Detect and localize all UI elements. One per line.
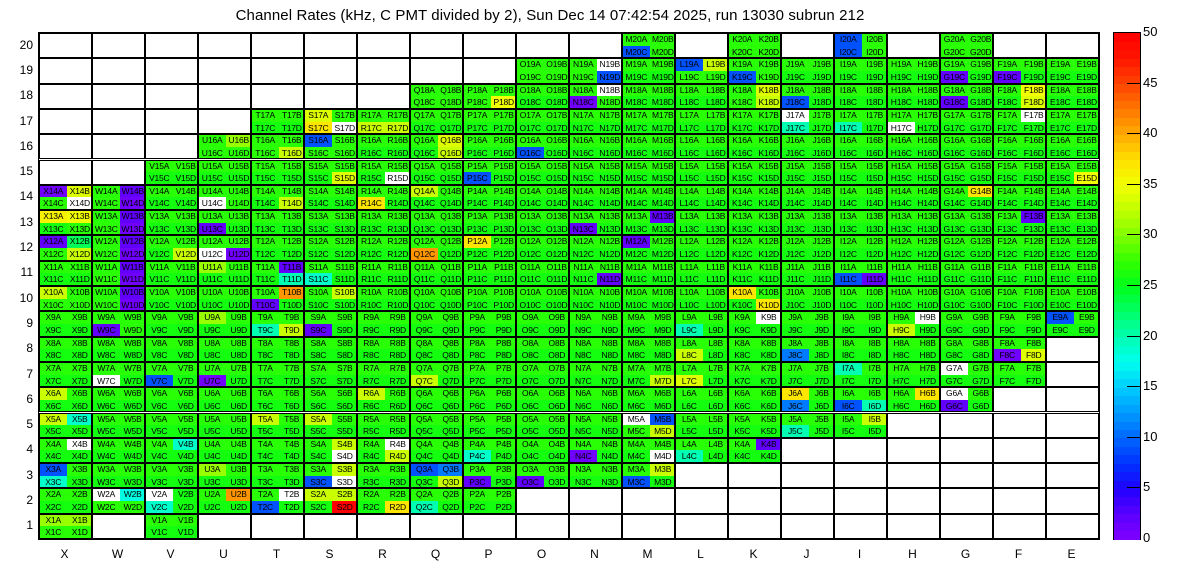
heatmap-supercell[interactable]: U14AU14BU14CU14D bbox=[198, 185, 251, 210]
heatmap-subcell[interactable]: J11B bbox=[809, 261, 835, 274]
heatmap-subcell[interactable]: K17D bbox=[756, 122, 782, 135]
heatmap-subcell[interactable]: T4C bbox=[252, 450, 279, 463]
heatmap-subcell[interactable]: J18C bbox=[782, 96, 809, 109]
heatmap-supercell[interactable]: H6AH6BH6CH6D bbox=[887, 387, 940, 412]
heatmap-subcell[interactable]: H19A bbox=[888, 58, 915, 71]
heatmap-supercell[interactable]: S13AS13BS13CS13D bbox=[304, 210, 357, 235]
heatmap-subcell[interactable]: G9A bbox=[941, 311, 968, 324]
heatmap-subcell[interactable]: V5B bbox=[173, 413, 199, 426]
heatmap-subcell[interactable]: N7C bbox=[570, 375, 597, 388]
heatmap-subcell[interactable]: U15C bbox=[199, 172, 226, 185]
heatmap-subcell[interactable]: T9A bbox=[252, 311, 279, 324]
heatmap-subcell[interactable]: Q16C bbox=[411, 147, 438, 160]
heatmap-supercell[interactable]: Q17AQ17BQ17CQ17D bbox=[410, 109, 463, 134]
heatmap-subcell[interactable]: L6A bbox=[676, 387, 703, 400]
heatmap-subcell[interactable]: N6C bbox=[570, 400, 597, 413]
heatmap-subcell[interactable]: K4A bbox=[729, 438, 756, 451]
heatmap-subcell[interactable]: K11A bbox=[729, 261, 756, 274]
heatmap-supercell[interactable]: E10AE10BE10CE10D bbox=[1046, 286, 1099, 311]
heatmap-subcell[interactable]: G16D bbox=[968, 147, 994, 160]
heatmap-subcell[interactable]: M4B bbox=[650, 438, 676, 451]
heatmap-subcell[interactable]: J17A bbox=[782, 109, 809, 122]
heatmap-supercell[interactable]: R5AR5BR5CR5D bbox=[357, 413, 410, 438]
heatmap-subcell[interactable]: S11B bbox=[332, 261, 358, 274]
heatmap-subcell[interactable]: R13A bbox=[358, 210, 385, 223]
heatmap-subcell[interactable]: P10D bbox=[491, 299, 517, 312]
heatmap-supercell[interactable]: N13AN13BN13CN13D bbox=[569, 210, 622, 235]
heatmap-subcell[interactable]: N17B bbox=[597, 109, 623, 122]
heatmap-subcell[interactable]: R11C bbox=[358, 273, 385, 286]
heatmap-subcell[interactable]: W9D bbox=[120, 324, 146, 337]
heatmap-supercell[interactable]: T5AT5BT5CT5D bbox=[251, 413, 304, 438]
heatmap-subcell[interactable]: N8C bbox=[570, 349, 597, 362]
heatmap-subcell[interactable]: H11B bbox=[915, 261, 941, 274]
heatmap-subcell[interactable]: G15B bbox=[968, 160, 994, 173]
heatmap-subcell[interactable]: S4B bbox=[332, 438, 358, 451]
heatmap-subcell[interactable]: X6B bbox=[67, 387, 93, 400]
heatmap-supercell[interactable]: W9AW9BW9CW9D bbox=[92, 311, 145, 336]
heatmap-supercell[interactable]: Q3AQ3BQ3CQ3D bbox=[410, 463, 463, 488]
heatmap-subcell[interactable]: L14D bbox=[703, 197, 729, 210]
heatmap-subcell[interactable]: L13C bbox=[676, 223, 703, 236]
heatmap-supercell[interactable]: Q10AQ10BQ10CQ10D bbox=[410, 286, 463, 311]
heatmap-subcell[interactable]: K15B bbox=[756, 160, 782, 173]
heatmap-subcell[interactable]: T6B bbox=[279, 387, 305, 400]
heatmap-subcell[interactable]: L9A bbox=[676, 311, 703, 324]
heatmap-subcell[interactable]: S6D bbox=[332, 400, 358, 413]
heatmap-subcell[interactable]: P5B bbox=[491, 413, 517, 426]
heatmap-subcell[interactable]: G6B bbox=[968, 387, 994, 400]
heatmap-supercell[interactable]: G12AG12BG12CG12D bbox=[940, 235, 993, 260]
heatmap-subcell[interactable]: F9A bbox=[994, 311, 1021, 324]
heatmap-subcell[interactable]: Q13A bbox=[411, 210, 438, 223]
heatmap-subcell[interactable]: H9A bbox=[888, 311, 915, 324]
heatmap-supercell[interactable]: S12AS12BS12CS12D bbox=[304, 235, 357, 260]
heatmap-subcell[interactable]: R15B bbox=[385, 160, 411, 173]
heatmap-supercell[interactable]: R6AR6BR6CR6D bbox=[357, 387, 410, 412]
heatmap-subcell[interactable]: T8C bbox=[252, 349, 279, 362]
heatmap-subcell[interactable]: O4B bbox=[544, 438, 570, 451]
heatmap-subcell[interactable]: H13B bbox=[915, 210, 941, 223]
heatmap-subcell[interactable]: N10D bbox=[597, 299, 623, 312]
heatmap-supercell[interactable]: M10AM10BM10CM10D bbox=[622, 286, 675, 311]
heatmap-subcell[interactable]: G13B bbox=[968, 210, 994, 223]
heatmap-subcell[interactable]: J12A bbox=[782, 235, 809, 248]
heatmap-subcell[interactable]: W13A bbox=[93, 210, 120, 223]
heatmap-subcell[interactable]: Q3B bbox=[438, 463, 464, 476]
heatmap-subcell[interactable]: W14C bbox=[93, 197, 120, 210]
heatmap-subcell[interactable]: O7A bbox=[517, 362, 544, 375]
heatmap-subcell[interactable]: U3C bbox=[199, 476, 226, 489]
heatmap-subcell[interactable]: P7C bbox=[464, 375, 491, 388]
heatmap-subcell[interactable]: F18A bbox=[994, 84, 1021, 97]
heatmap-subcell[interactable]: M6A bbox=[623, 387, 650, 400]
heatmap-subcell[interactable]: I8B bbox=[862, 337, 888, 350]
heatmap-subcell[interactable]: V6D bbox=[173, 400, 199, 413]
heatmap-subcell[interactable]: T17B bbox=[279, 109, 305, 122]
heatmap-subcell[interactable]: M15B bbox=[650, 160, 676, 173]
heatmap-subcell[interactable]: J19D bbox=[809, 71, 835, 84]
heatmap-supercell[interactable]: W5AW5BW5CW5D bbox=[92, 413, 145, 438]
heatmap-subcell[interactable]: J15C bbox=[782, 172, 809, 185]
heatmap-subcell[interactable]: G20D bbox=[968, 46, 994, 59]
heatmap-subcell[interactable]: X7A bbox=[40, 362, 67, 375]
heatmap-subcell[interactable]: O13C bbox=[517, 223, 544, 236]
heatmap-subcell[interactable]: V4B bbox=[173, 438, 199, 451]
heatmap-subcell[interactable]: J11C bbox=[782, 273, 809, 286]
heatmap-subcell[interactable]: N15C bbox=[570, 172, 597, 185]
heatmap-subcell[interactable]: N12A bbox=[570, 235, 597, 248]
heatmap-supercell[interactable]: R3AR3BR3CR3D bbox=[357, 463, 410, 488]
heatmap-subcell[interactable]: F18B bbox=[1021, 84, 1047, 97]
heatmap-subcell[interactable]: K7D bbox=[756, 375, 782, 388]
heatmap-subcell[interactable]: L8D bbox=[703, 349, 729, 362]
heatmap-supercell[interactable]: W14AW14BW14CW14D bbox=[92, 185, 145, 210]
heatmap-subcell[interactable]: Q2B bbox=[438, 488, 464, 501]
heatmap-supercell[interactable]: L7AL7BL7CL7D bbox=[675, 362, 728, 387]
heatmap-subcell[interactable]: R14A bbox=[358, 185, 385, 198]
heatmap-subcell[interactable]: R4D bbox=[385, 450, 411, 463]
heatmap-subcell[interactable]: S3D bbox=[332, 476, 358, 489]
heatmap-subcell[interactable]: M4D bbox=[650, 450, 676, 463]
heatmap-supercell[interactable]: T7AT7BT7CT7D bbox=[251, 362, 304, 387]
heatmap-subcell[interactable]: L18B bbox=[703, 84, 729, 97]
heatmap-subcell[interactable]: I12C bbox=[835, 248, 862, 261]
heatmap-subcell[interactable]: H13C bbox=[888, 223, 915, 236]
heatmap-subcell[interactable]: F7B bbox=[1021, 362, 1047, 375]
heatmap-subcell[interactable]: M3A bbox=[623, 463, 650, 476]
heatmap-supercell[interactable]: S3AS3BS3CS3D bbox=[304, 463, 357, 488]
heatmap-subcell[interactable]: I15D bbox=[862, 172, 888, 185]
heatmap-subcell[interactable]: O16A bbox=[517, 134, 544, 147]
heatmap-subcell[interactable]: O14A bbox=[517, 185, 544, 198]
heatmap-supercell[interactable]: G15AG15BG15CG15D bbox=[940, 160, 993, 185]
heatmap-subcell[interactable]: X13A bbox=[40, 210, 67, 223]
heatmap-supercell[interactable]: H10AH10BH10CH10D bbox=[887, 286, 940, 311]
heatmap-subcell[interactable]: N16D bbox=[597, 147, 623, 160]
heatmap-subcell[interactable]: M11A bbox=[623, 261, 650, 274]
heatmap-subcell[interactable]: P17C bbox=[464, 122, 491, 135]
heatmap-subcell[interactable]: K8B bbox=[756, 337, 782, 350]
heatmap-subcell[interactable]: F12B bbox=[1021, 235, 1047, 248]
heatmap-supercell[interactable]: O18AO18BO18CO18D bbox=[516, 84, 569, 109]
heatmap-subcell[interactable]: J19B bbox=[809, 58, 835, 71]
heatmap-subcell[interactable]: O13B bbox=[544, 210, 570, 223]
heatmap-subcell[interactable]: N3D bbox=[597, 476, 623, 489]
heatmap-subcell[interactable]: O9A bbox=[517, 311, 544, 324]
heatmap-subcell[interactable]: G8A bbox=[941, 337, 968, 350]
heatmap-subcell[interactable]: X5B bbox=[67, 413, 93, 426]
heatmap-supercell[interactable]: T4AT4BT4CT4D bbox=[251, 438, 304, 463]
heatmap-subcell[interactable]: Q10A bbox=[411, 286, 438, 299]
heatmap-subcell[interactable]: R12A bbox=[358, 235, 385, 248]
heatmap-subcell[interactable]: N9A bbox=[570, 311, 597, 324]
heatmap-subcell[interactable]: P12C bbox=[464, 248, 491, 261]
heatmap-subcell[interactable]: H10B bbox=[915, 286, 941, 299]
heatmap-subcell[interactable]: R12D bbox=[385, 248, 411, 261]
heatmap-subcell[interactable]: U14D bbox=[226, 197, 252, 210]
heatmap-subcell[interactable]: P16C bbox=[464, 147, 491, 160]
heatmap-subcell[interactable]: J8B bbox=[809, 337, 835, 350]
heatmap-supercell[interactable]: H12AH12BH12CH12D bbox=[887, 235, 940, 260]
heatmap-supercell[interactable]: G19AG19BG19CG19D bbox=[940, 58, 993, 83]
heatmap-subcell[interactable]: J9C bbox=[782, 324, 809, 337]
heatmap-subcell[interactable]: O19C bbox=[517, 71, 544, 84]
heatmap-subcell[interactable]: K5D bbox=[756, 425, 782, 438]
heatmap-subcell[interactable]: T13B bbox=[279, 210, 305, 223]
heatmap-subcell[interactable]: X10A bbox=[40, 286, 67, 299]
heatmap-subcell[interactable]: H8A bbox=[888, 337, 915, 350]
heatmap-subcell[interactable]: T11C bbox=[252, 273, 279, 286]
heatmap-subcell[interactable]: S16D bbox=[332, 147, 358, 160]
heatmap-supercell[interactable]: W6AW6BW6CW6D bbox=[92, 387, 145, 412]
heatmap-supercell[interactable]: I15AI15BI15CI15D bbox=[834, 160, 887, 185]
heatmap-subcell[interactable]: W11C bbox=[93, 273, 120, 286]
heatmap-subcell[interactable]: E18B bbox=[1074, 84, 1100, 97]
heatmap-supercell[interactable]: T2AT2BT2CT2D bbox=[251, 488, 304, 513]
heatmap-supercell[interactable]: W7AW7BW7CW7D bbox=[92, 362, 145, 387]
heatmap-supercell[interactable]: U16AU16BU16CU16D bbox=[198, 134, 251, 159]
heatmap-supercell[interactable]: Q9AQ9BQ9CQ9D bbox=[410, 311, 463, 336]
heatmap-subcell[interactable]: R16A bbox=[358, 134, 385, 147]
heatmap-supercell[interactable]: H17AH17BH17CH17D bbox=[887, 109, 940, 134]
heatmap-subcell[interactable]: O4D bbox=[544, 450, 570, 463]
heatmap-supercell[interactable]: S4AS4BS4CS4D bbox=[304, 438, 357, 463]
heatmap-subcell[interactable]: L4A bbox=[676, 438, 703, 451]
heatmap-supercell[interactable]: M11AM11BM11CM11D bbox=[622, 261, 675, 286]
heatmap-subcell[interactable]: G16B bbox=[968, 134, 994, 147]
heatmap-subcell[interactable]: S2B bbox=[332, 488, 358, 501]
heatmap-supercell[interactable]: L17AL17BL17CL17D bbox=[675, 109, 728, 134]
heatmap-subcell[interactable]: P11C bbox=[464, 273, 491, 286]
heatmap-subcell[interactable]: F14A bbox=[994, 185, 1021, 198]
heatmap-subcell[interactable]: U9B bbox=[226, 311, 252, 324]
heatmap-subcell[interactable]: E14D bbox=[1074, 197, 1100, 210]
heatmap-subcell[interactable]: K15A bbox=[729, 160, 756, 173]
heatmap-subcell[interactable]: O19D bbox=[544, 71, 570, 84]
heatmap-subcell[interactable]: Q14A bbox=[411, 185, 438, 198]
heatmap-subcell[interactable]: V4A bbox=[146, 438, 173, 451]
heatmap-subcell[interactable]: X2A bbox=[40, 488, 67, 501]
heatmap-subcell[interactable]: L7D bbox=[703, 375, 729, 388]
heatmap-subcell[interactable]: V14C bbox=[146, 197, 173, 210]
heatmap-supercell[interactable]: V5AV5BV5CV5D bbox=[145, 413, 198, 438]
heatmap-supercell[interactable]: N4AN4BN4CN4D bbox=[569, 438, 622, 463]
heatmap-supercell[interactable]: M20AM20BM20CM20D bbox=[622, 33, 675, 58]
heatmap-supercell[interactable]: J17AJ17BJ17CJ17D bbox=[781, 109, 834, 134]
heatmap-subcell[interactable]: T3C bbox=[252, 476, 279, 489]
heatmap-subcell[interactable]: U12C bbox=[199, 248, 226, 261]
heatmap-subcell[interactable]: I18A bbox=[835, 84, 862, 97]
heatmap-subcell[interactable]: O18B bbox=[544, 84, 570, 97]
heatmap-subcell[interactable]: E15B bbox=[1074, 160, 1100, 173]
heatmap-supercell[interactable]: F13AF13BF13CF13D bbox=[993, 210, 1046, 235]
heatmap-subcell[interactable]: U11D bbox=[226, 273, 252, 286]
heatmap-subcell[interactable]: G8B bbox=[968, 337, 994, 350]
heatmap-subcell[interactable]: K5C bbox=[729, 425, 756, 438]
heatmap-subcell[interactable]: I5B bbox=[862, 413, 888, 426]
heatmap-subcell[interactable]: V7C bbox=[146, 375, 173, 388]
heatmap-subcell[interactable]: W10C bbox=[93, 299, 120, 312]
heatmap-subcell[interactable]: P5D bbox=[491, 425, 517, 438]
heatmap-subcell[interactable]: I7C bbox=[835, 375, 862, 388]
heatmap-subcell[interactable]: L4D bbox=[703, 450, 729, 463]
heatmap-subcell[interactable]: O11B bbox=[544, 261, 570, 274]
heatmap-subcell[interactable]: J14C bbox=[782, 197, 809, 210]
heatmap-subcell[interactable]: O17A bbox=[517, 109, 544, 122]
heatmap-subcell[interactable]: I18D bbox=[862, 96, 888, 109]
heatmap-subcell[interactable]: X12B bbox=[67, 235, 93, 248]
heatmap-supercell[interactable]: J6AJ6BJ6CJ6D bbox=[781, 387, 834, 412]
heatmap-subcell[interactable]: I19A bbox=[835, 58, 862, 71]
heatmap-subcell[interactable]: E9D bbox=[1074, 324, 1100, 337]
heatmap-subcell[interactable]: S16A bbox=[305, 134, 332, 147]
heatmap-subcell[interactable]: G11C bbox=[941, 273, 968, 286]
heatmap-subcell[interactable]: H9B bbox=[915, 311, 941, 324]
heatmap-subcell[interactable]: M19A bbox=[623, 58, 650, 71]
heatmap-subcell[interactable]: Q6A bbox=[411, 387, 438, 400]
heatmap-subcell[interactable]: H18C bbox=[888, 96, 915, 109]
heatmap-subcell[interactable]: K4B bbox=[756, 438, 782, 451]
heatmap-subcell[interactable]: F16C bbox=[994, 147, 1021, 160]
heatmap-subcell[interactable]: R11D bbox=[385, 273, 411, 286]
heatmap-subcell[interactable]: O18C bbox=[517, 96, 544, 109]
heatmap-subcell[interactable]: W6C bbox=[93, 400, 120, 413]
heatmap-subcell[interactable]: Q10B bbox=[438, 286, 464, 299]
heatmap-subcell[interactable]: I6C bbox=[835, 400, 862, 413]
heatmap-subcell[interactable]: J16D bbox=[809, 147, 835, 160]
heatmap-supercell[interactable]: X1AX1BX1CX1D bbox=[39, 514, 92, 539]
heatmap-subcell[interactable]: V5D bbox=[173, 425, 199, 438]
heatmap-subcell[interactable]: R5B bbox=[385, 413, 411, 426]
heatmap-subcell[interactable]: T12D bbox=[279, 248, 305, 261]
heatmap-subcell[interactable]: V10D bbox=[173, 299, 199, 312]
heatmap-subcell[interactable]: N19D bbox=[597, 71, 623, 84]
heatmap-subcell[interactable]: P3C bbox=[464, 476, 491, 489]
heatmap-subcell[interactable]: M9C bbox=[623, 324, 650, 337]
heatmap-subcell[interactable]: T15B bbox=[279, 160, 305, 173]
heatmap-supercell[interactable]: L13AL13BL13CL13D bbox=[675, 210, 728, 235]
heatmap-subcell[interactable]: J17D bbox=[809, 122, 835, 135]
heatmap-subcell[interactable]: P6D bbox=[491, 400, 517, 413]
heatmap-subcell[interactable]: O4C bbox=[517, 450, 544, 463]
heatmap-supercell[interactable]: H9AH9BH9CH9D bbox=[887, 311, 940, 336]
heatmap-subcell[interactable]: Q6D bbox=[438, 400, 464, 413]
heatmap-subcell[interactable]: L11D bbox=[703, 273, 729, 286]
heatmap-subcell[interactable]: E9C bbox=[1047, 324, 1074, 337]
heatmap-subcell[interactable]: P16B bbox=[491, 134, 517, 147]
heatmap-supercell[interactable]: H7AH7BH7CH7D bbox=[887, 362, 940, 387]
heatmap-supercell[interactable]: K10AK10BK10CK10D bbox=[728, 286, 781, 311]
heatmap-subcell[interactable]: P13D bbox=[491, 223, 517, 236]
heatmap-subcell[interactable]: K8C bbox=[729, 349, 756, 362]
heatmap-subcell[interactable]: L17B bbox=[703, 109, 729, 122]
heatmap-subcell[interactable]: N13C bbox=[570, 223, 597, 236]
heatmap-subcell[interactable]: E9B bbox=[1074, 311, 1100, 324]
heatmap-subcell[interactable]: J16C bbox=[782, 147, 809, 160]
heatmap-subcell[interactable]: M17A bbox=[623, 109, 650, 122]
heatmap-subcell[interactable]: M3D bbox=[650, 476, 676, 489]
heatmap-subcell[interactable]: U10A bbox=[199, 286, 226, 299]
heatmap-subcell[interactable]: L13A bbox=[676, 210, 703, 223]
heatmap-subcell[interactable]: Q3C bbox=[411, 476, 438, 489]
heatmap-subcell[interactable]: M10B bbox=[650, 286, 676, 299]
heatmap-subcell[interactable]: U5A bbox=[199, 413, 226, 426]
heatmap-subcell[interactable]: K7B bbox=[756, 362, 782, 375]
heatmap-subcell[interactable]: J18B bbox=[809, 84, 835, 97]
heatmap-subcell[interactable]: X4A bbox=[40, 438, 67, 451]
heatmap-subcell[interactable]: K8D bbox=[756, 349, 782, 362]
heatmap-subcell[interactable]: W5C bbox=[93, 425, 120, 438]
heatmap-subcell[interactable]: M20C bbox=[623, 46, 650, 59]
heatmap-subcell[interactable]: Q4B bbox=[438, 438, 464, 451]
heatmap-subcell[interactable]: I11B bbox=[862, 261, 888, 274]
heatmap-subcell[interactable]: U11C bbox=[199, 273, 226, 286]
heatmap-subcell[interactable]: S4D bbox=[332, 450, 358, 463]
heatmap-supercell[interactable]: M17AM17BM17CM17D bbox=[622, 109, 675, 134]
heatmap-subcell[interactable]: O8A bbox=[517, 337, 544, 350]
heatmap-subcell[interactable]: N4C bbox=[570, 450, 597, 463]
heatmap-subcell[interactable]: O9B bbox=[544, 311, 570, 324]
heatmap-subcell[interactable]: I8C bbox=[835, 349, 862, 362]
heatmap-subcell[interactable]: F7A bbox=[994, 362, 1021, 375]
heatmap-subcell[interactable]: K13C bbox=[729, 223, 756, 236]
heatmap-subcell[interactable]: Q7B bbox=[438, 362, 464, 375]
heatmap-subcell[interactable]: R14C bbox=[358, 197, 385, 210]
heatmap-subcell[interactable]: P9D bbox=[491, 324, 517, 337]
heatmap-supercell[interactable]: J18AJ18BJ18CJ18D bbox=[781, 84, 834, 109]
heatmap-subcell[interactable]: E13D bbox=[1074, 223, 1100, 236]
heatmap-subcell[interactable]: Q8A bbox=[411, 337, 438, 350]
heatmap-subcell[interactable]: L15B bbox=[703, 160, 729, 173]
heatmap-supercell[interactable]: X7AX7BX7CX7D bbox=[39, 362, 92, 387]
heatmap-subcell[interactable]: G14A bbox=[941, 185, 968, 198]
heatmap-subcell[interactable]: L13B bbox=[703, 210, 729, 223]
heatmap-subcell[interactable]: U16B bbox=[226, 134, 252, 147]
heatmap-supercell[interactable]: X13AX13BX13CX13D bbox=[39, 210, 92, 235]
heatmap-subcell[interactable]: T10D bbox=[279, 299, 305, 312]
heatmap-supercell[interactable]: O3AO3BO3CO3D bbox=[516, 463, 569, 488]
heatmap-subcell[interactable]: N18A bbox=[570, 84, 597, 97]
heatmap-subcell[interactable]: L14A bbox=[676, 185, 703, 198]
heatmap-subcell[interactable]: R12C bbox=[358, 248, 385, 261]
heatmap-subcell[interactable]: W3C bbox=[93, 476, 120, 489]
heatmap-supercell[interactable]: F17AF17BF17CF17D bbox=[993, 109, 1046, 134]
heatmap-subcell[interactable]: T9C bbox=[252, 324, 279, 337]
heatmap-supercell[interactable]: P9AP9BP9CP9D bbox=[463, 311, 516, 336]
heatmap-subcell[interactable]: I13D bbox=[862, 223, 888, 236]
heatmap-supercell[interactable]: V2AV2BV2CV2D bbox=[145, 488, 198, 513]
heatmap-subcell[interactable]: Q8B bbox=[438, 337, 464, 350]
heatmap-subcell[interactable]: M17D bbox=[650, 122, 676, 135]
heatmap-subcell[interactable]: L18A bbox=[676, 84, 703, 97]
heatmap-subcell[interactable]: R7C bbox=[358, 375, 385, 388]
heatmap-subcell[interactable]: H8C bbox=[888, 349, 915, 362]
heatmap-subcell[interactable]: M11B bbox=[650, 261, 676, 274]
heatmap-subcell[interactable]: T15D bbox=[279, 172, 305, 185]
heatmap-subcell[interactable]: F7D bbox=[1021, 375, 1047, 388]
heatmap-subcell[interactable]: M13A bbox=[623, 210, 650, 223]
heatmap-subcell[interactable]: N8A bbox=[570, 337, 597, 350]
heatmap-subcell[interactable]: X12A bbox=[40, 235, 67, 248]
heatmap-subcell[interactable]: G15D bbox=[968, 172, 994, 185]
heatmap-subcell[interactable]: O3A bbox=[517, 463, 544, 476]
heatmap-subcell[interactable]: P7D bbox=[491, 375, 517, 388]
heatmap-subcell[interactable]: X10D bbox=[67, 299, 93, 312]
heatmap-supercell[interactable]: M8AM8BM8CM8D bbox=[622, 337, 675, 362]
heatmap-subcell[interactable]: R11A bbox=[358, 261, 385, 274]
heatmap-supercell[interactable]: V15AV15BV15CV15D bbox=[145, 160, 198, 185]
